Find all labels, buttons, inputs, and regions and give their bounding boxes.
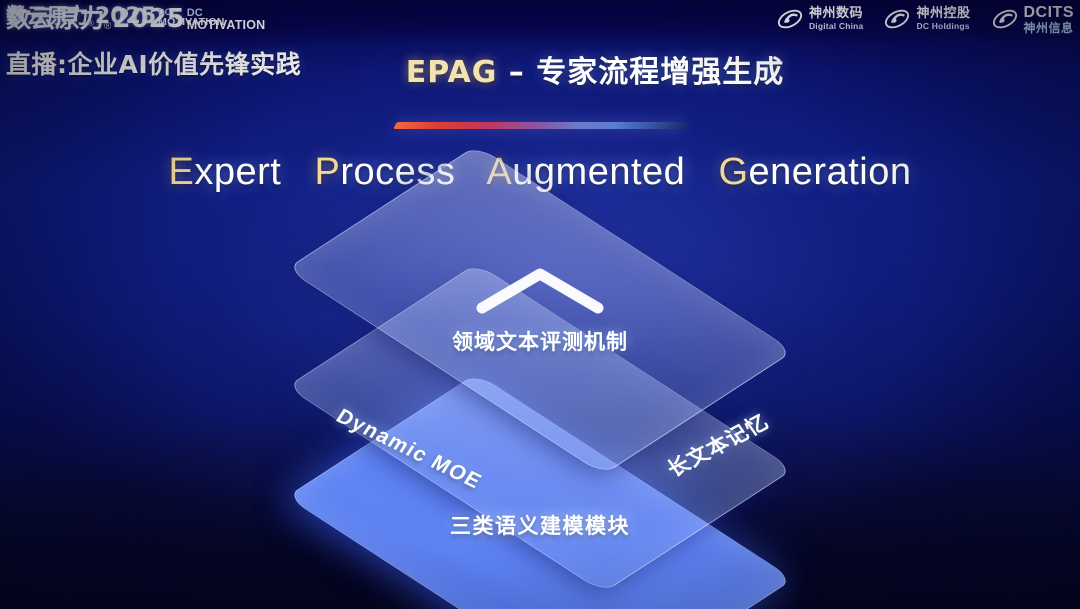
- footer-brand-year: 2025: [95, 6, 156, 28]
- page-title: EPAG – 专家流程增强生成: [0, 55, 1080, 91]
- page-title-separator: –: [497, 55, 536, 90]
- stack-label-bottom: 三类语义建模模块: [450, 510, 630, 540]
- footer-brand-logo: 数云原力®2025 DC MOTIVATION: [6, 2, 1072, 28]
- subtitle-rest: xpert: [194, 151, 281, 193]
- subtitle-word-generation: Generation: [718, 151, 911, 193]
- stack-label-top: 领域文本评测机制: [452, 326, 628, 356]
- page-title-chinese: 专家流程增强生成: [536, 55, 784, 90]
- gradient-divider: [393, 122, 687, 129]
- page-title-acronym: EPAG: [406, 55, 498, 90]
- subtitle-initial: G: [718, 151, 748, 193]
- slide-root: 数云原力®2025 DC MOTIVATION 直播:企业AI价值先锋实践 神州…: [0, 0, 1080, 609]
- subtitle-word-expert: Expert: [169, 151, 282, 193]
- footer-brand-name-cn: 数云原力: [6, 5, 88, 28]
- footer-brand-registered-mark: ®: [88, 19, 94, 28]
- subtitle-initial: P: [315, 151, 341, 193]
- layered-stack-diagram: 领域文本评测机制 Dynamic MOE 长文本记忆 三类语义建模模块: [280, 228, 800, 558]
- subtitle-initial: E: [169, 151, 195, 193]
- subtitle-space: [696, 151, 707, 193]
- subtitle-space: [292, 151, 303, 193]
- footer-brand-dc-motivation: DC MOTIVATION: [158, 8, 224, 28]
- footer-brand-motivation-label: MOTIVATION: [158, 17, 224, 28]
- subtitle-rest: eneration: [749, 151, 912, 193]
